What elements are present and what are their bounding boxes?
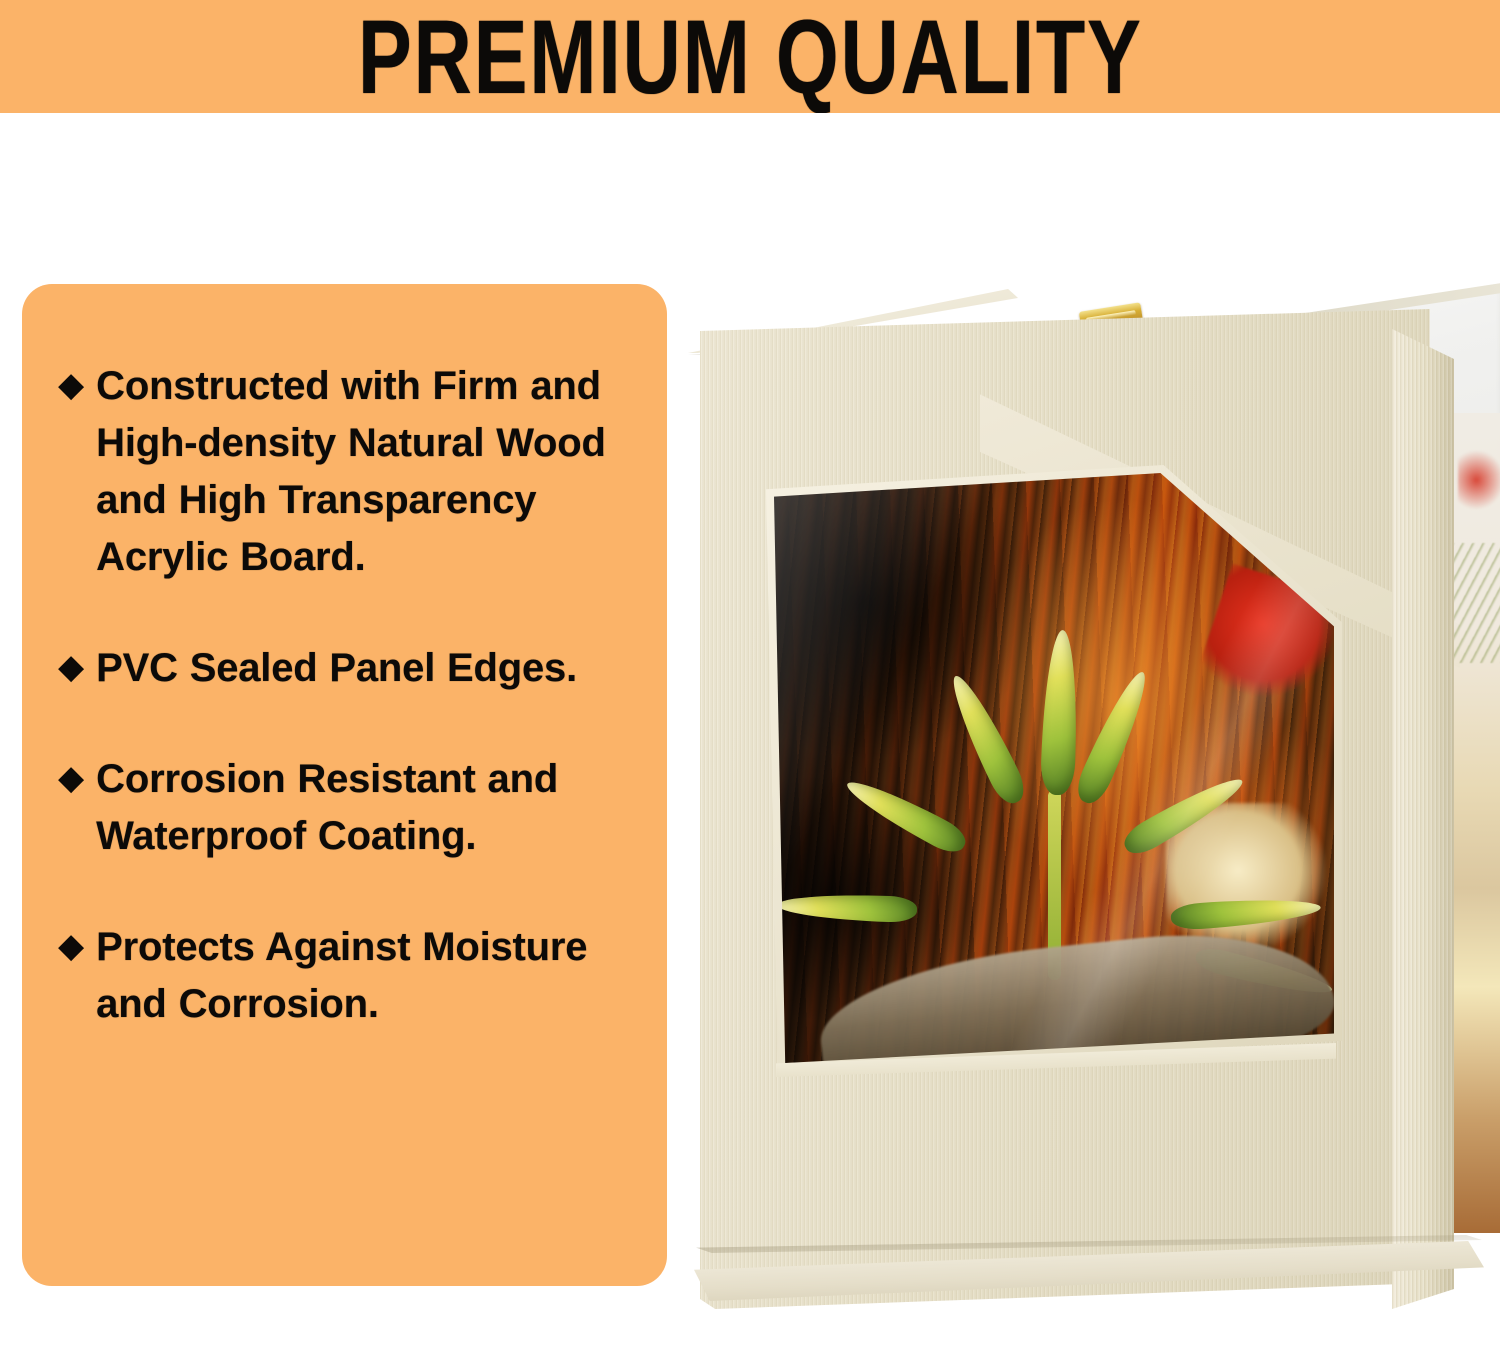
banner-title: PREMIUM QUALITY [358,4,1143,109]
feature-item: ◆ Constructed with Firm and High-density… [58,358,647,586]
corner-post-grain [1392,309,1454,1309]
diamond-bullet-icon: ◆ [58,918,84,975]
feature-text: Constructed with Firm and High-density N… [96,358,647,586]
feature-text: Protects Against Moisture and Corrosion. [96,919,647,1033]
front-viewing-window [774,473,1334,1063]
feature-text: PVC Sealed Panel Edges. [96,640,647,697]
diamond-bullet-icon: ◆ [58,639,84,696]
diamond-bullet-icon: ◆ [58,357,84,414]
side-viewing-window [1450,413,1500,1233]
feature-text: Corrosion Resistant and Waterproof Coati… [96,751,647,865]
side-red-accent [1458,451,1500,509]
feature-item: ◆ PVC Sealed Panel Edges. [58,640,647,697]
feature-item: ◆ Corrosion Resistant and Waterproof Coa… [58,751,647,865]
feature-item: ◆ Protects Against Moisture and Corrosio… [58,919,647,1033]
premium-quality-banner: PREMIUM QUALITY [0,0,1500,113]
side-plant-fronds [1452,543,1500,663]
diamond-bullet-icon: ◆ [58,750,84,807]
features-panel: ◆ Constructed with Firm and High-density… [22,284,667,1286]
product-photo [680,113,1500,1352]
